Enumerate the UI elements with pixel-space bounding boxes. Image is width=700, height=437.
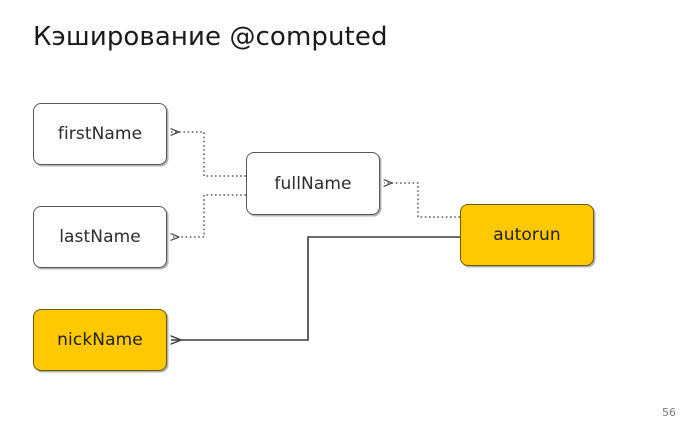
page-number: 56 [662, 406, 676, 419]
node-autorun-label: autorun [493, 225, 561, 245]
edge-autorun-to-nickname [171, 237, 460, 340]
node-lastname-label: lastName [59, 227, 141, 247]
slide: Кэширование @computed firstName [0, 0, 700, 437]
node-firstname[interactable]: firstName [33, 103, 167, 165]
edge-fullname-to-firstname [171, 132, 246, 176]
node-autorun[interactable]: autorun [460, 204, 594, 266]
node-lastname[interactable]: lastName [33, 206, 167, 268]
node-firstname-label: firstName [58, 124, 142, 144]
edge-fullname-to-lastname [171, 195, 246, 237]
node-nickname-label: nickName [57, 330, 143, 350]
node-fullname[interactable]: fullName [246, 152, 380, 215]
node-fullname-label: fullName [274, 174, 351, 194]
edge-autorun-to-fullname [384, 183, 460, 217]
node-nickname[interactable]: nickName [33, 309, 167, 371]
